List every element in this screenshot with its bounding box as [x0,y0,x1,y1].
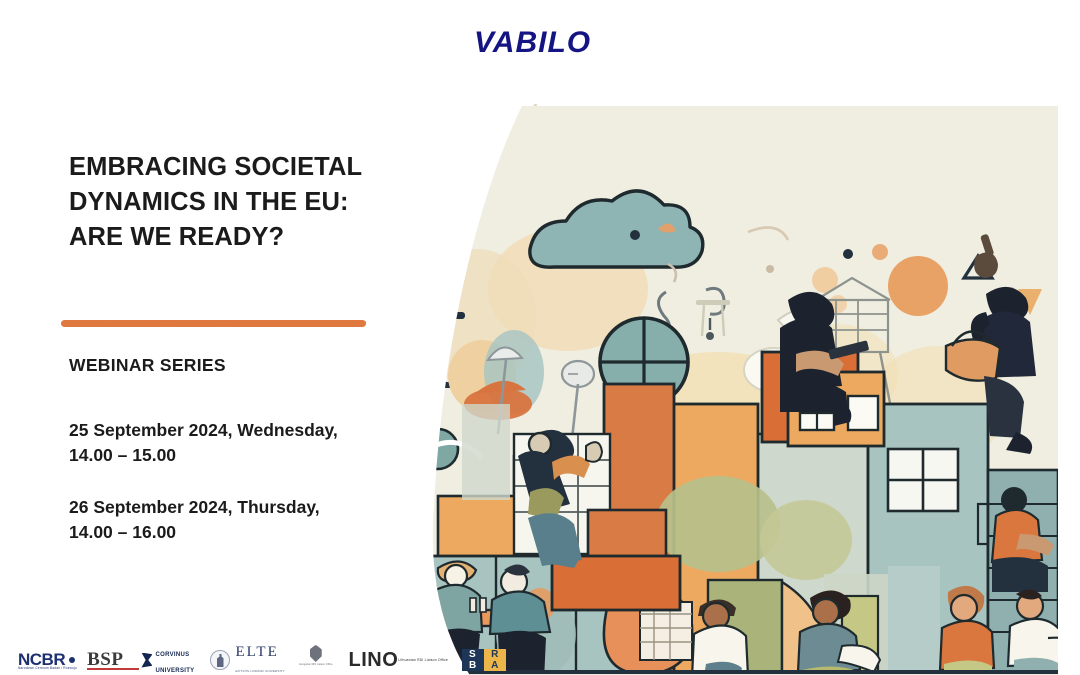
event-date-list: 25 September 2024, Wednesday, 14.00 – 15… [69,418,429,572]
page-title: VABILO [474,26,591,60]
logo-corvinus-line2: UNIVERSITY [155,668,194,674]
logo-lino: LINO Lithuanian RDI Liaison Office [349,645,448,675]
logo-lino-subtitle: Lithuanian RDI Liaison Office [398,658,448,662]
event-time: 14.00 – 15.00 [69,443,429,468]
elte-seal-icon [210,650,230,670]
left-text-column: EMBRACING SOCIETAL DYNAMICS IN THE EU: A… [69,150,419,256]
city-people-illustration [418,104,1058,675]
headline-line-2: DYNAMICS IN THE EU: [69,185,419,220]
logo-sbra-left: S B [462,649,484,671]
small-tree [418,342,442,439]
logo-lino-text: LINO [349,650,399,670]
event-date: 26 September 2024, Thursday, [69,495,429,520]
headline-line-3: ARE WE READY? [69,220,419,255]
headline-line-1: EMBRACING SOCIETAL [69,150,419,185]
hero-illustration [418,104,1058,675]
hungarian-coat-of-arms-icon [310,645,322,662]
logo-ncbr-dot [69,657,75,663]
logo-elte: ELTE EÖTVÖS LORÁND UNIVERSITY [210,645,284,675]
series-label: WEBINAR SERIES [69,355,226,376]
logo-sbra-right: R A [484,649,506,671]
event-item: 26 September 2024, Thursday, 14.00 – 16.… [69,495,429,544]
event-item: 25 September 2024, Wednesday, 14.00 – 15… [69,418,429,467]
headline: EMBRACING SOCIETAL DYNAMICS IN THE EU: A… [69,150,419,256]
logo-bsp-rule [87,668,139,670]
logo-hungarian-subtitle: Hungarian RDI Liaison Office [299,663,333,666]
corvinus-mark-icon [141,653,152,668]
event-time: 14.00 – 16.00 [69,520,429,545]
logo-elte-text: ELTE [235,644,278,660]
presentation-slide: VABILO EMBRACING SOCIETAL DYNAMICS IN TH… [0,0,1080,675]
sponsor-logo-strip: NCBR Narodowe Centrum Badań i Rozwoju BS… [0,645,470,675]
logo-elte-subtitle: EÖTVÖS LORÁND UNIVERSITY [235,669,284,673]
logo-corvinus-line1: CORVINUS [155,652,189,658]
event-date: 25 September 2024, Wednesday, [69,418,429,443]
logo-ncbr-subtitle: Narodowe Centrum Badań i Rozwoju [18,666,77,670]
logo-corvinus: CORVINUS UNIVERSITY [141,645,194,675]
logo-ncbr: NCBR Narodowe Centrum Badań i Rozwoju [18,645,75,675]
logo-bsp: BSP [87,645,123,675]
logo-sbra: S B R A [462,648,506,672]
logo-hungarian-office: Hungarian RDI Liaison Office [299,645,333,675]
divider-rule [61,320,366,327]
